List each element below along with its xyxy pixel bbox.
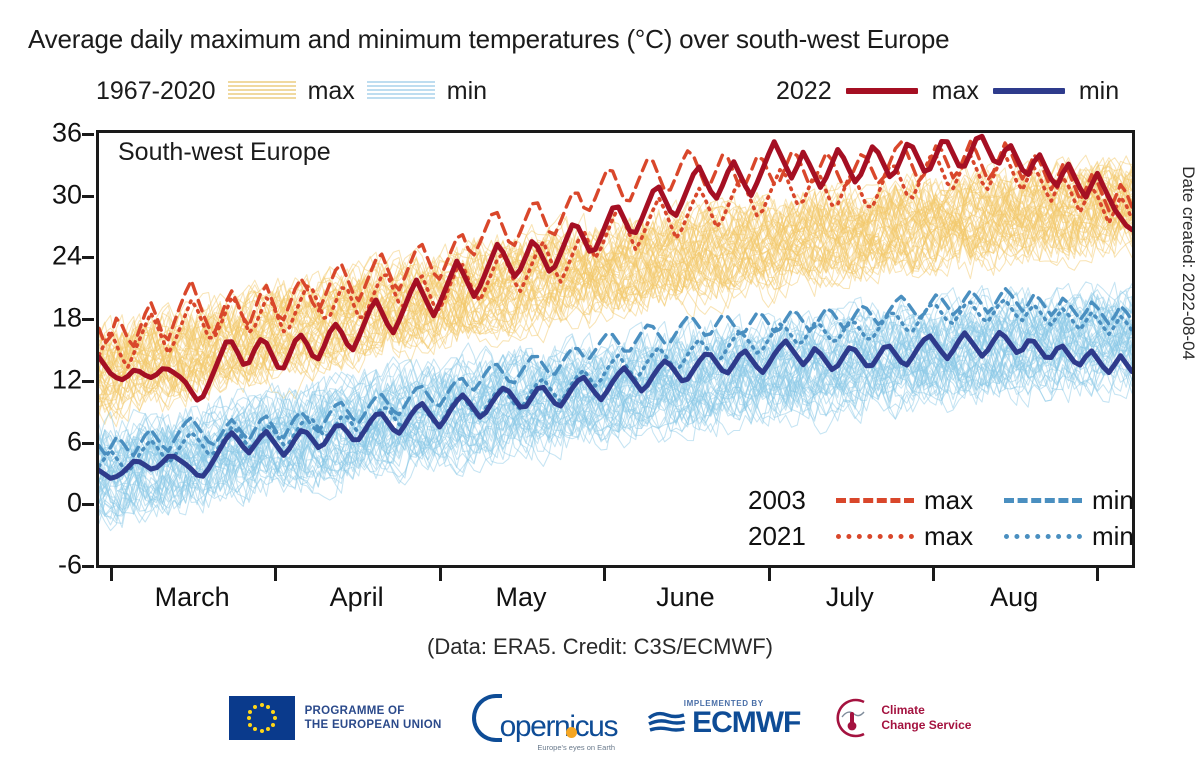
inner-legend: 2003 max min 2021 max min (748, 484, 1166, 552)
eu-flag-icon (229, 696, 295, 740)
legend-2022-max-label: max (932, 77, 979, 106)
x-tick-mark (932, 568, 935, 581)
y-tick-mark (82, 380, 94, 383)
legend-climatology: 1967-2020 max min (96, 74, 487, 108)
legend-2003-min-label: min (1092, 485, 1166, 516)
eu-programme-text: PROGRAMME OF THE EUROPEAN UNION (305, 704, 442, 732)
y-axis-ticks (0, 130, 96, 568)
eu-star-icon (273, 716, 277, 720)
eu-star-icon (260, 729, 264, 733)
legend-climatology-years: 1967-2020 (96, 77, 216, 106)
x-tick-label: June (656, 582, 715, 613)
legend-2003-max-label: max (924, 485, 998, 516)
inner-legend-row: 2003 max min (748, 484, 1166, 516)
copernicus-dot-icon (566, 727, 577, 738)
climatology-max-swatch (228, 80, 296, 102)
ecmwf-wordmark: ECMWF (692, 708, 800, 738)
copernicus-logo: opernicus Europe's eyes on Earth (472, 694, 617, 742)
c3s-line1: Climate (881, 703, 971, 718)
x-tick-label: July (826, 582, 874, 613)
footer-logos: PROGRAMME OF THE EUROPEAN UNION opernicu… (0, 690, 1200, 746)
legend-2003-max-swatch (836, 498, 914, 503)
y-tick-mark (82, 256, 94, 259)
eu-star-icon (271, 723, 275, 727)
ecmwf-row: ECMWF (647, 708, 800, 738)
y-tick-mark (82, 565, 94, 568)
eu-star-icon (271, 710, 275, 714)
x-tick-mark (439, 568, 442, 581)
climatology-min-swatch (367, 80, 435, 102)
legend-climatology-min-label: min (447, 77, 487, 106)
legend-2021-max-label: max (924, 521, 998, 552)
eu-star-icon (253, 727, 257, 731)
eu-star-icon (260, 703, 264, 707)
legend-2022-max-swatch (846, 88, 918, 94)
copernicus-tagline: Europe's eyes on Earth (537, 743, 615, 752)
legend-2022-min-label: min (1079, 77, 1119, 106)
c3s-text: Climate Change Service (881, 703, 971, 733)
legend-climatology-max-label: max (308, 77, 355, 106)
legend-2022: 2022 max min (776, 74, 1119, 108)
x-axis: MarchAprilMayJuneJulyAug (96, 568, 1135, 614)
legend-2003-year: 2003 (748, 485, 830, 516)
climate-chart: Average daily maximum and minimum temper… (0, 0, 1200, 777)
legend-2021-min-swatch (1004, 534, 1082, 539)
y-tick-mark (82, 318, 94, 321)
c3s-line2: Change Service (881, 718, 971, 733)
y-tick-mark (82, 503, 94, 506)
inner-legend-row: 2021 max min (748, 520, 1166, 552)
x-tick-label: March (155, 582, 230, 613)
copernicus-arc-icon (472, 694, 502, 742)
x-tick-mark (110, 568, 113, 581)
date-created-label: Date created: 2022-08-04 (1178, 166, 1198, 360)
eu-star-icon (266, 727, 270, 731)
x-tick-label: May (495, 582, 546, 613)
legend-2021-max-swatch (836, 534, 914, 539)
region-annotation: South-west Europe (118, 138, 331, 167)
legend-2021-year: 2021 (748, 521, 830, 552)
ecmwf-logo: IMPLEMENTED BY ECMWF (647, 699, 800, 738)
eu-logo: PROGRAMME OF THE EUROPEAN UNION (229, 696, 442, 740)
source-caption: (Data: ERA5. Credit: C3S/ECMWF) (0, 634, 1200, 660)
x-tick-mark (1096, 568, 1099, 581)
page-title: Average daily maximum and minimum temper… (28, 24, 949, 55)
eu-star-icon (253, 705, 257, 709)
c3s-logo: Climate Change Service (830, 697, 971, 739)
x-tick-label: Aug (990, 582, 1038, 613)
ecmwf-swirl-icon (647, 710, 687, 736)
x-tick-mark (768, 568, 771, 581)
climate-thermometer-icon (830, 697, 874, 739)
legend-2021-min-label: min (1092, 521, 1166, 552)
top-legend: 1967-2020 max min 2022 max min (96, 74, 1136, 108)
legend-2003-min-swatch (1004, 498, 1082, 503)
copernicus-wordmark: opernicus (500, 712, 617, 742)
eu-star-icon (266, 705, 270, 709)
x-tick-mark (274, 568, 277, 581)
y-tick-mark (82, 195, 94, 198)
eu-programme-line2: THE EUROPEAN UNION (305, 718, 442, 732)
x-tick-mark (603, 568, 606, 581)
eu-star-icon (247, 716, 251, 720)
eu-star-icon (248, 710, 252, 714)
y-tick-mark (82, 133, 94, 136)
y-tick-mark (82, 442, 94, 445)
x-tick-label: April (330, 582, 384, 613)
legend-2022-year: 2022 (776, 77, 832, 106)
eu-programme-line1: PROGRAMME OF (305, 704, 442, 718)
eu-star-icon (248, 723, 252, 727)
legend-2022-min-swatch (993, 88, 1065, 94)
